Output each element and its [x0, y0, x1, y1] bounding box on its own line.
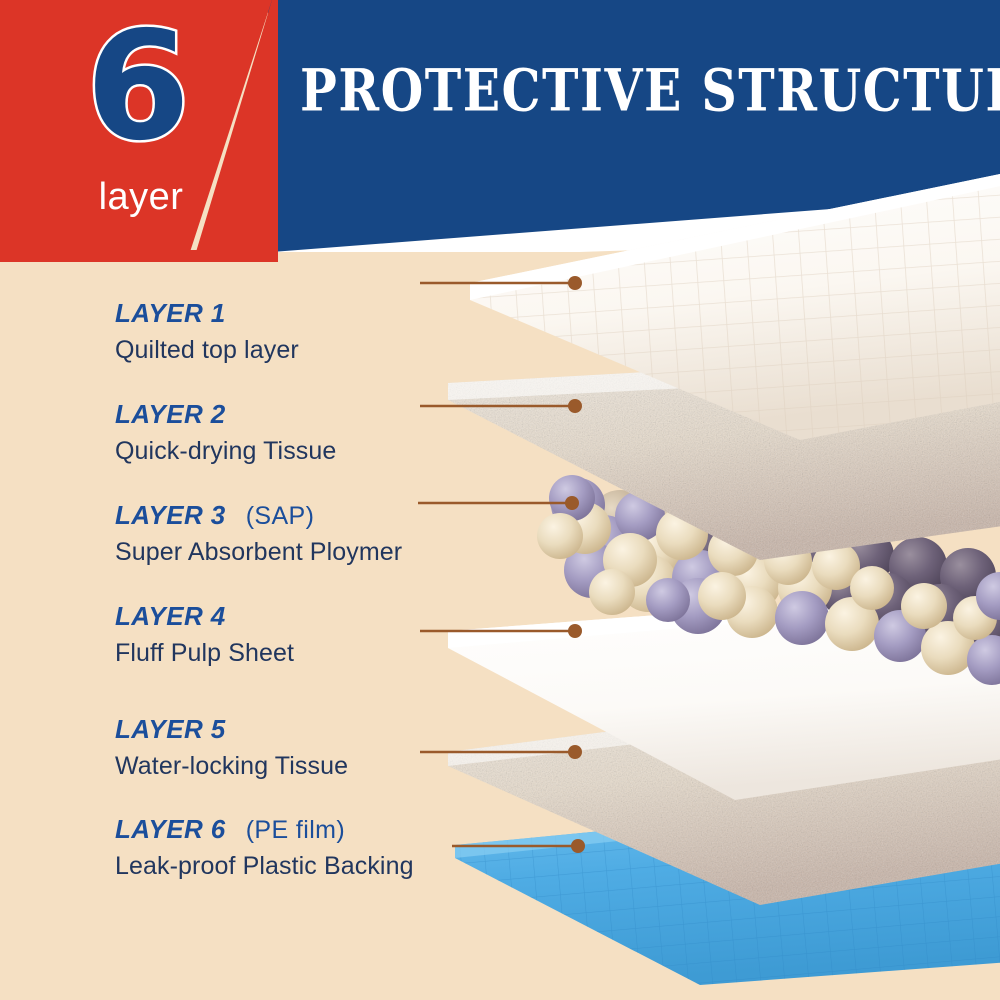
callout-layer-6: LAYER 6(PE film) Leak-proof Plastic Back… [115, 814, 515, 881]
callout-heading-3: LAYER 3(SAP) [115, 500, 515, 531]
callout-heading-label-1: LAYER 1 [115, 298, 226, 328]
callout-heading-2: LAYER 2 [115, 399, 515, 430]
callout-heading-1: LAYER 1 [115, 298, 515, 329]
callout-description-5: Water-locking Tissue [115, 752, 515, 781]
callout-heading-4: LAYER 4 [115, 601, 515, 632]
callout-layer-3: LAYER 3(SAP) Super Absorbent Ploymer [115, 500, 515, 567]
callout-description-1: Quilted top layer [115, 336, 515, 365]
callout-description-4: Fluff Pulp Sheet [115, 639, 515, 668]
callout-list: LAYER 1 Quilted top layer LAYER 2 Quick-… [0, 0, 1000, 1000]
callout-heading-label-3: LAYER 3 [115, 500, 226, 530]
callout-layer-1: LAYER 1 Quilted top layer [115, 298, 515, 365]
callout-layer-4: LAYER 4 Fluff Pulp Sheet [115, 601, 515, 668]
callout-heading-label-6: LAYER 6 [115, 814, 226, 844]
callout-layer-5: LAYER 5 Water-locking Tissue [115, 714, 515, 781]
callout-layer-2: LAYER 2 Quick-drying Tissue [115, 399, 515, 466]
callout-heading-label-5: LAYER 5 [115, 714, 226, 744]
callout-heading-sub-6: (PE film) [246, 816, 345, 844]
callout-heading-label-2: LAYER 2 [115, 399, 226, 429]
callout-description-2: Quick-drying Tissue [115, 437, 515, 466]
callout-heading-sub-3: (SAP) [246, 502, 315, 530]
callout-heading-5: LAYER 5 [115, 714, 515, 745]
callout-description-6: Leak-proof Plastic Backing [115, 852, 515, 881]
callout-heading-label-4: LAYER 4 [115, 601, 226, 631]
callout-heading-6: LAYER 6(PE film) [115, 814, 515, 845]
callout-description-3: Super Absorbent Ploymer [115, 538, 515, 567]
